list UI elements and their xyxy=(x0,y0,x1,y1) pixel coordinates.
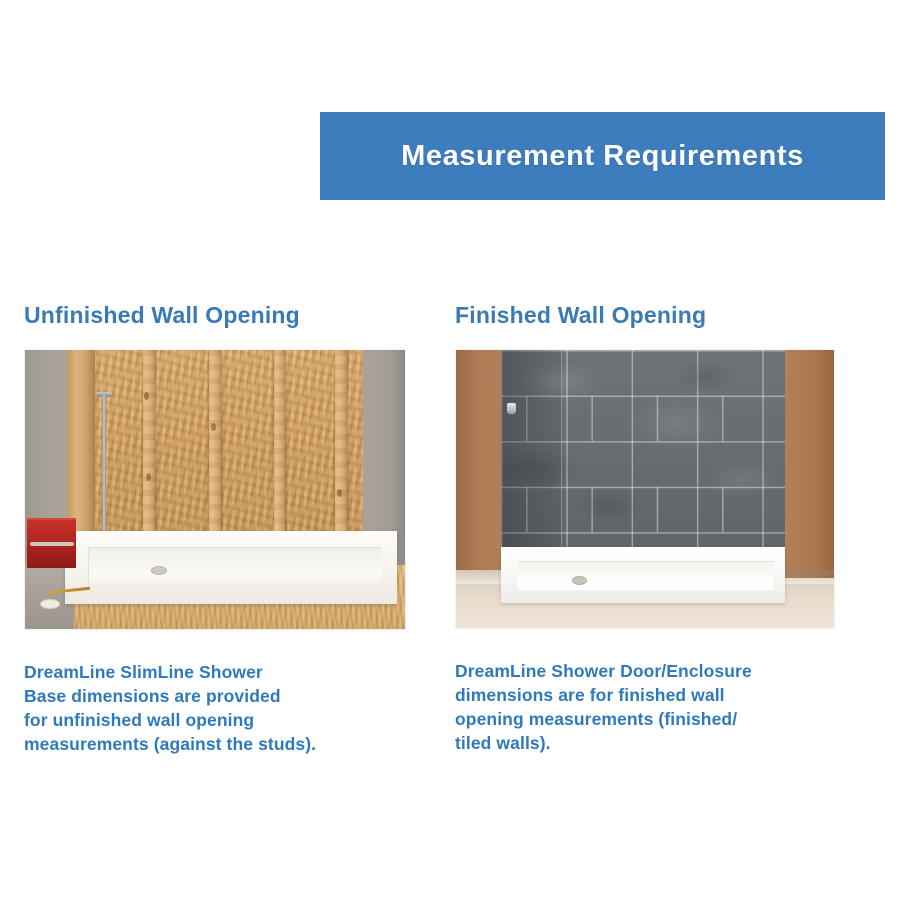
shower-base xyxy=(501,547,785,603)
wall-stud xyxy=(143,350,155,543)
caption-finished: DreamLine Shower Door/Enclosure dimensio… xyxy=(455,659,850,756)
unfinished-wall-section: Unfinished Wall Opening xyxy=(24,302,419,774)
slimline-shower-base xyxy=(65,531,398,604)
wall-stud xyxy=(209,350,220,543)
shower-valve-trim xyxy=(507,403,516,414)
red-toolbox xyxy=(27,518,76,567)
caption-unfinished: DreamLine SlimLine Shower Base dimension… xyxy=(24,660,419,757)
finished-wall-photo xyxy=(455,349,835,629)
slate-tiled-wall xyxy=(501,350,785,567)
shower-base-floor xyxy=(88,547,381,585)
right-painted-wall xyxy=(785,350,834,578)
measurement-requirements-banner: Measurement Requirements xyxy=(320,112,885,200)
tiled-return-wall xyxy=(501,350,562,567)
section-heading-unfinished: Unfinished Wall Opening xyxy=(24,302,419,329)
unfinished-wall-scene xyxy=(25,350,405,629)
unfinished-wall-photo xyxy=(24,349,406,630)
wall-stud xyxy=(335,350,347,543)
toolbox-handle xyxy=(30,542,74,547)
finished-wall-section: Finished Wall Opening DreamLine Shower D… xyxy=(455,302,850,773)
page-title: Measurement Requirements xyxy=(401,140,804,173)
wall-stud xyxy=(274,350,285,543)
shower-supply-pipe xyxy=(102,395,106,540)
shower-base-floor xyxy=(518,561,773,589)
left-painted-wall xyxy=(456,350,501,570)
section-heading-finished: Finished Wall Opening xyxy=(455,302,850,329)
finished-wall-scene xyxy=(456,350,834,628)
